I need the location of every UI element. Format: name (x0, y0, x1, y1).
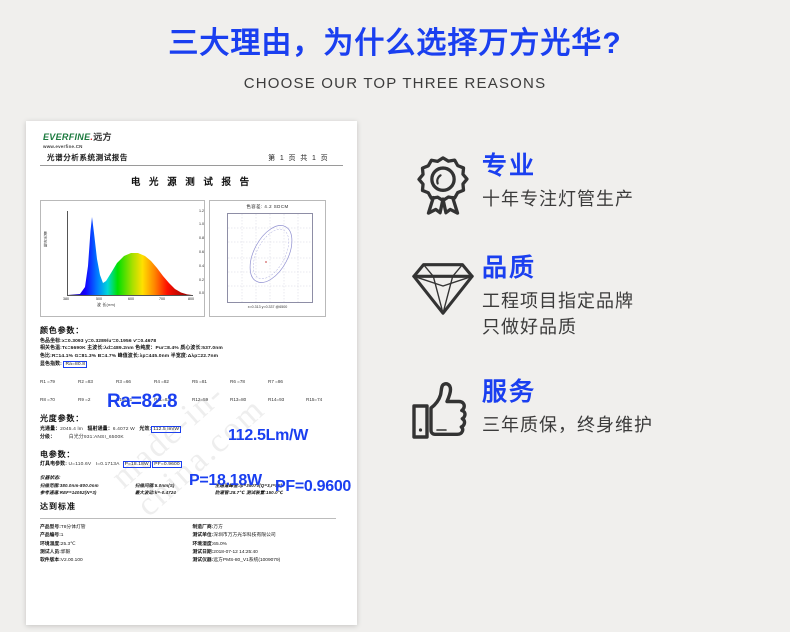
logo-url: www.everfine.CN (43, 144, 112, 149)
bin-value: 白光分931:ANSI_6500K (69, 435, 124, 440)
instrument-row: 扫描范围:380.0nm-800.0nm (40, 482, 135, 489)
info-row: 测试日期:2018-07-12 14:25:40 (193, 549, 346, 557)
feature-text: 服务 三年质保，终身维护 (482, 376, 653, 438)
info-key: 测试日期: (193, 550, 214, 555)
spd-ytick: 0.6 (199, 250, 204, 254)
spd-xtick: 500 (96, 297, 102, 301)
electrical-prefix: 灯具电参数: (40, 462, 69, 467)
flux-label: 光通量： (40, 427, 60, 432)
spd-xtick: 600 (128, 297, 134, 301)
annotation-ra: Ra=82.8 (107, 391, 177, 413)
chromaticity-tolerance-chart: 色容差: 4.2 SDCM (209, 200, 326, 317)
spd-ytick: 1.0 (199, 222, 204, 226)
cri-label: 显色指数 (40, 362, 60, 367)
report-header-line: 光谱分析系统测试报告 第 1 页 共 1 页 (40, 152, 343, 166)
electrical-row: 灯具电参数: U=110.6V I=0.1713A P=18.18W PF=0.… (40, 461, 345, 469)
spd-xtick: 800 (188, 297, 194, 301)
feature-desc-line: 三年质保，终身维护 (482, 412, 653, 438)
info-row: 环境温度:25.3℃ (40, 541, 193, 549)
cri-row: 显色指数: Ra=80.8 (40, 361, 345, 369)
cri-item: R7 =86 (268, 379, 306, 384)
bin-label: 分级： (40, 435, 55, 440)
cri-item: R6 =78 (230, 379, 268, 384)
report-system-name: 光谱分析系统测试报告 (47, 152, 128, 163)
logo-brand-cn: 远方 (93, 132, 112, 142)
cri-item: R12=59 (192, 397, 230, 402)
annotation-power: P=18.18W (189, 472, 262, 490)
info-value: 郭毅 (61, 550, 71, 555)
cie-coordinates: x=0.313 y=0.337 @6500 (210, 305, 325, 309)
info-row: 产品型号:T8分体灯管 (40, 524, 193, 532)
spd-ytick: 0.4 (199, 264, 204, 268)
spd-xtick: 700 (159, 297, 165, 301)
report-charts: 相对光谱 1.2 1.0 0.8 0.6 0.4 0.2 0.0 (40, 200, 343, 315)
info-row: 测试单位:深圳市万方光华科技有限公司 (193, 532, 346, 540)
cri-item: R13=80 (230, 397, 268, 402)
info-value: 25.3℃ (61, 542, 76, 547)
info-key: 软件版本: (40, 558, 61, 563)
medal-rosette-icon (404, 150, 482, 216)
cri-item: R4 =82 (154, 379, 192, 384)
info-value: 1 (61, 533, 64, 538)
cri-item: R1 =79 (40, 379, 78, 384)
feature-desc-line: 只做好品质 (482, 314, 634, 340)
info-row: 测试仪器:远方PMS-80_V1系统(1009079) (193, 557, 346, 565)
spd-ytick: 0.8 (199, 236, 204, 240)
annotation-pf: PF=0.9600 (275, 478, 351, 496)
cie-plot-area (227, 213, 313, 303)
feature-text: 专业 十年专注灯管生产 (482, 150, 634, 212)
spd-x-axis-label: 波 长(nm) (97, 303, 116, 308)
info-value: 65.0% (213, 542, 227, 547)
cri-item: R15=74 (306, 397, 344, 402)
info-row: 产品编号:1 (40, 532, 193, 540)
color-row: 相关色温:Tc=6690K 主波长:λd=489.2nm 色纯度：Pur=8.4… (40, 345, 345, 353)
page-subtitle: CHOOSE OUR TOP THREE REASONS (0, 75, 790, 92)
product-info-left: 产品型号:T8分体灯管 产品编号:1 环境温度:25.3℃ 测试人员:郭毅 软件… (40, 524, 193, 566)
cri-item: R3 =66 (116, 379, 154, 384)
spd-curve (68, 211, 192, 295)
voltage-value: U=110.6V (69, 462, 92, 467)
page-root: 三大理由，为什么选择万方光华? CHOOSE OUR TOP THREE REA… (0, 0, 790, 632)
info-key: 制造厂商: (193, 525, 214, 530)
spd-ytick: 0.0 (199, 291, 204, 295)
spd-ytick: 0.2 (199, 278, 204, 282)
radiant-label: 辐射通量： (88, 427, 113, 432)
color-section-title: 颜色参数： (40, 325, 345, 336)
feature-item-professional: 专业 十年专注灯管生产 (404, 150, 784, 216)
instrument-row: 参考通道:REF=14052(N=3) (40, 489, 135, 496)
report-page-indicator: 第 1 页 共 1 页 (268, 153, 329, 163)
cie-ellipse (228, 214, 312, 302)
cie-chart-title: 色容差: 4.2 SDCM (210, 204, 325, 210)
info-row: 环境湿度:65.0% (193, 541, 346, 549)
current-value: I=0.1713A (96, 462, 120, 467)
info-value: V2.00.100 (61, 558, 83, 563)
feature-item-service: 服务 三年质保，终身维护 (404, 376, 784, 440)
cri-values-row: R8 =70R9 =2R10=61R11=83R12=59R13=80R14=9… (40, 388, 345, 406)
feature-text: 品质 工程项目指定品牌 只做好品质 (482, 252, 634, 340)
page-header: 三大理由，为什么选择万方光华? CHOOSE OUR TOP THREE REA… (0, 0, 790, 92)
cri-item: R14=93 (268, 397, 306, 402)
electrical-section-title: 电参数： (40, 449, 345, 460)
report-title: 电 光 源 测 试 报 告 (26, 174, 357, 188)
cri-item: R2 =83 (78, 379, 116, 384)
info-value: 万方 (213, 525, 223, 530)
info-value: 远方PMS-80_V1系统(1009079) (213, 558, 280, 563)
cri-values-row: R1 =79R2 =83R3 =66R4 =82R5 =81R6 =78R7 =… (40, 370, 345, 388)
info-value: 深圳市万方光华科技有限公司 (213, 533, 275, 538)
cri-item: R5 =81 (192, 379, 230, 384)
pf-value-boxed: PF=0.9600 (152, 461, 181, 468)
info-divider (40, 518, 336, 519)
diamond-icon (404, 252, 482, 318)
photometric-section-title: 光度参数： (40, 413, 345, 424)
feature-desc-line: 十年专注灯管生产 (482, 186, 634, 212)
info-value: 2018-07-12 14:25:40 (213, 550, 258, 555)
power-value-boxed: P=18.18W (123, 461, 151, 468)
spd-ytick: 1.2 (199, 209, 204, 213)
cri-item: R8 =70 (40, 397, 78, 402)
info-key: 测试仪器: (193, 558, 214, 563)
info-row: 软件版本:V2.00.100 (40, 557, 193, 565)
annotation-efficacy: 112.5Lm/W (228, 427, 308, 445)
conclusion-text: 达到标准 (40, 501, 345, 512)
feature-desc-line: 工程项目指定品牌 (482, 288, 634, 314)
info-row: 测试人员:郭毅 (40, 549, 193, 557)
info-key: 环境温度: (40, 542, 61, 547)
thumbs-up-icon (404, 376, 482, 440)
info-key: 产品编号: (40, 533, 61, 538)
spectral-power-distribution-chart: 相对光谱 1.2 1.0 0.8 0.6 0.4 0.2 0.0 (40, 200, 205, 317)
spd-xtick: 380 (63, 297, 69, 301)
spd-y-axis-label: 相对光谱 (42, 231, 47, 247)
flux-value: 2045.4 lm (60, 427, 83, 432)
page-title: 三大理由，为什么选择万方光华? (0, 26, 790, 62)
feature-item-quality: 品质 工程项目指定品牌 只做好品质 (404, 252, 784, 340)
efficacy-value-boxed: 112.5 lm/W (151, 426, 181, 433)
everfine-logo: EVERFINE.远方 www.everfine.CN (43, 130, 112, 149)
product-info-table: 产品型号:T8分体灯管 产品编号:1 环境温度:25.3℃ 测试人员:郭毅 软件… (40, 524, 345, 566)
radiant-value: 6.4072 W (113, 427, 135, 432)
info-key: 产品型号: (40, 525, 61, 530)
color-row: 色品坐标:x=0.3093 y=0.3289/u'=0.1956 v'=0.46… (40, 338, 345, 346)
info-value: T8分体灯管 (61, 525, 86, 530)
efficacy-label: 光效: (139, 427, 151, 432)
product-info-right: 制造厂商:万方 测试单位:深圳市万方光华科技有限公司 环境湿度:65.0% 测试… (193, 524, 346, 566)
info-key: 测试单位: (193, 533, 214, 538)
feature-title: 服务 (482, 378, 653, 407)
feature-title: 专业 (482, 152, 634, 181)
test-report-card: EVERFINE.远方 www.everfine.CN 光谱分析系统测试报告 第… (26, 121, 357, 625)
cri-value-boxed: Ra=80.8 (63, 361, 87, 368)
features-list: 专业 十年专注灯管生产 品质 工程项目指定品牌 只做好品质 (404, 150, 784, 476)
feature-title: 品质 (482, 254, 634, 283)
logo-brand: EVERFINE (43, 132, 90, 142)
info-row: 制造厂商:万方 (193, 524, 346, 532)
info-key: 测试人员: (40, 550, 61, 555)
info-key: 环境湿度: (193, 542, 214, 547)
